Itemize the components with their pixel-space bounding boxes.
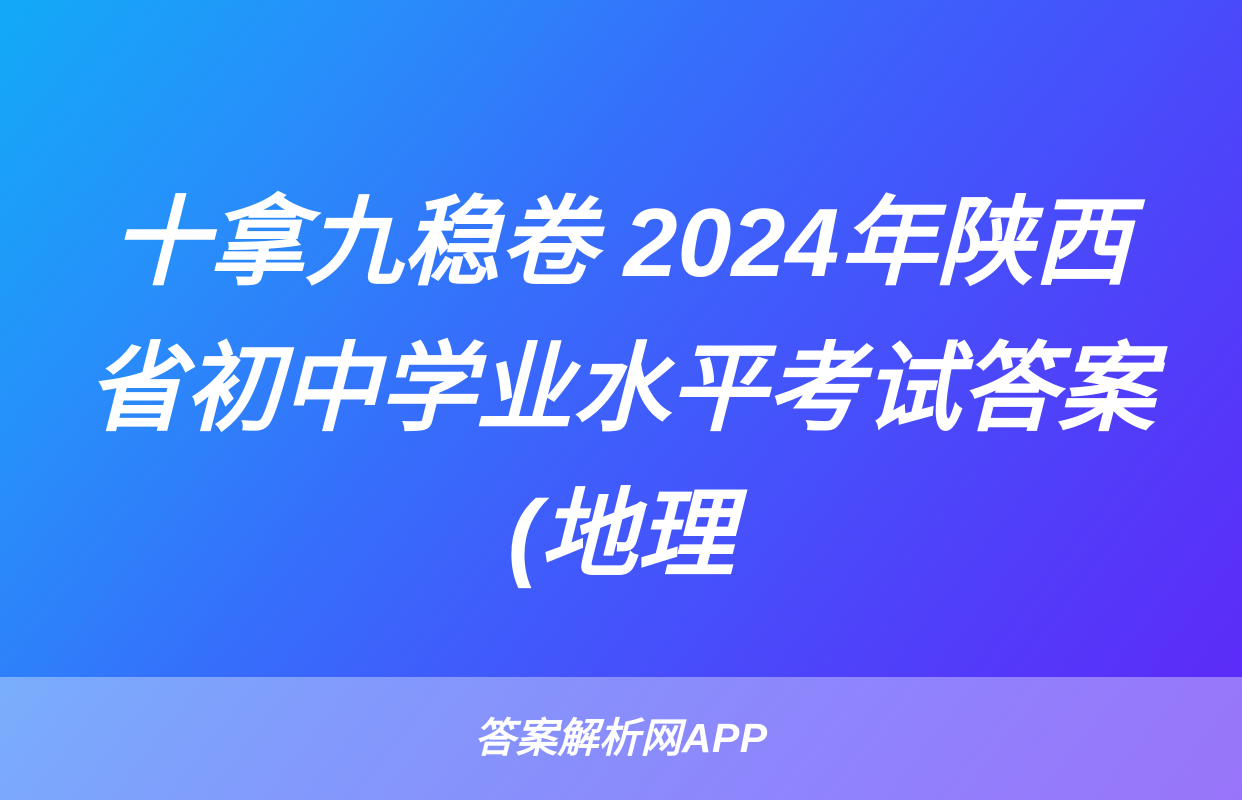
- title-line-2: 省初中学业水平考试答案: [72, 316, 1170, 462]
- title-line-1: 十拿九稳卷 2024年陕西: [72, 170, 1170, 316]
- title-line-3: (地理: [72, 462, 1170, 608]
- poster-canvas: 十拿九稳卷 2024年陕西 省初中学业水平考试答案 (地理 答案解析网APP: [0, 0, 1242, 800]
- watermark-label: 答案解析网APP: [474, 718, 767, 759]
- page-title: 十拿九稳卷 2024年陕西 省初中学业水平考试答案 (地理: [0, 170, 1242, 608]
- watermark-band: 答案解析网APP: [0, 677, 1242, 800]
